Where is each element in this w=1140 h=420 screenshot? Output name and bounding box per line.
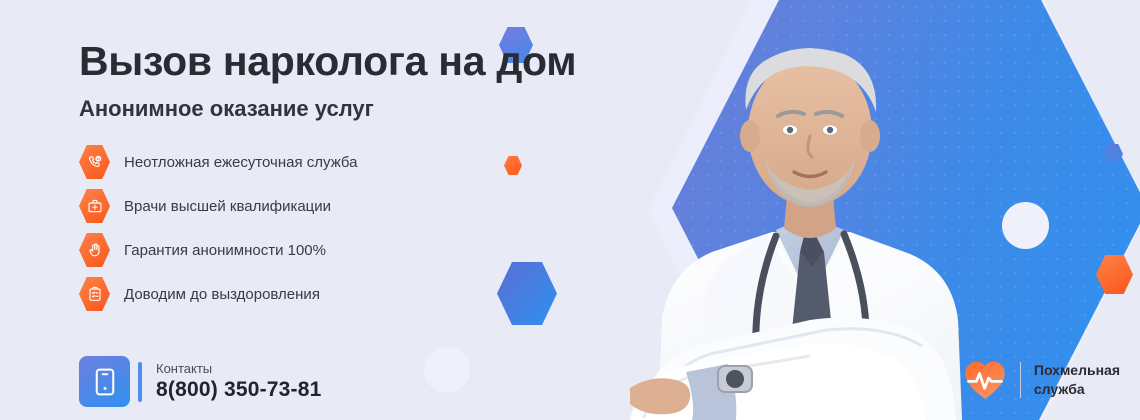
page-title: Вызов нарколога на дом bbox=[79, 38, 576, 85]
page-subtitle: Анонимное оказание услуг bbox=[79, 96, 374, 122]
brand-name-line1: Похмельная bbox=[1034, 361, 1120, 380]
contacts-block[interactable]: Контакты 8(800) 350-73-81 bbox=[79, 356, 321, 407]
list-item: 24 Неотложная ежесуточная служба bbox=[79, 140, 357, 184]
phone-24h-icon: 24 bbox=[79, 145, 110, 179]
features-list: 24 Неотложная ежесуточная служба Врачи в… bbox=[79, 140, 357, 316]
list-item-label: Гарантия анонимности 100% bbox=[124, 242, 326, 259]
contacts-phone-number[interactable]: 8(800) 350-73-81 bbox=[156, 378, 321, 402]
hand-privacy-icon bbox=[79, 233, 110, 267]
heart-pulse-icon bbox=[963, 358, 1007, 402]
list-item: Доводим до выздоровления bbox=[79, 272, 357, 316]
list-item-label: Доводим до выздоровления bbox=[124, 286, 320, 303]
list-item: Гарантия анонимности 100% bbox=[79, 228, 357, 272]
brand-divider bbox=[1020, 362, 1021, 398]
contacts-caption: Контакты bbox=[156, 361, 321, 376]
banner-content: Вызов нарколога на дом Анонимное оказани… bbox=[0, 0, 660, 420]
list-item-label: Неотложная ежесуточная служба bbox=[124, 154, 357, 171]
promo-banner: Вызов нарколога на дом Анонимное оказани… bbox=[0, 0, 1140, 420]
contacts-text: Контакты 8(800) 350-73-81 bbox=[156, 361, 321, 402]
contacts-divider bbox=[138, 362, 142, 402]
list-item: Врачи высшей квалификации bbox=[79, 184, 357, 228]
brand-logo[interactable]: Похмельная служба bbox=[963, 358, 1120, 402]
brand-name-line2: служба bbox=[1034, 380, 1120, 399]
list-item-label: Врачи высшей квалификации bbox=[124, 198, 331, 215]
doctor-photo bbox=[600, 0, 1020, 420]
brand-name: Похмельная служба bbox=[1034, 361, 1120, 399]
medical-bag-icon bbox=[79, 189, 110, 223]
clipboard-checklist-icon bbox=[79, 277, 110, 311]
mobile-phone-icon bbox=[79, 356, 130, 407]
svg-text:24: 24 bbox=[96, 157, 100, 161]
